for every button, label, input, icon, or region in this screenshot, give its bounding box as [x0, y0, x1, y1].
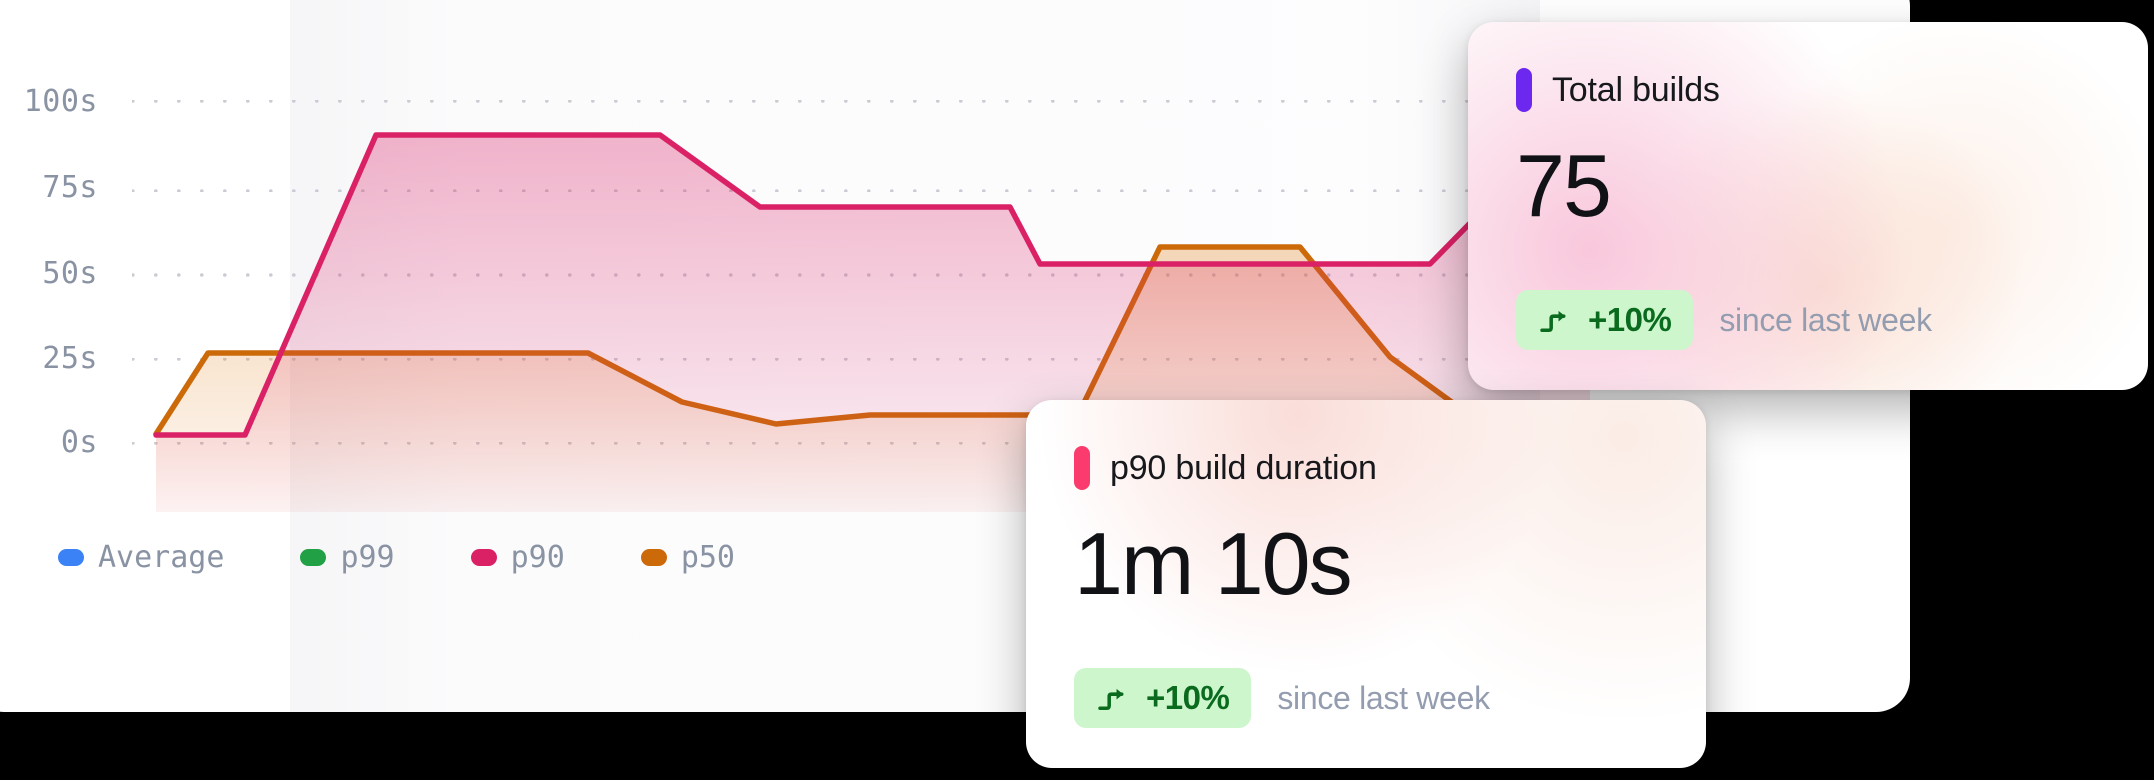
legend-item-p50[interactable]: p50 [641, 540, 735, 575]
trending-up-icon [1096, 683, 1130, 713]
legend-swatch-p90-icon [471, 549, 497, 566]
legend-item-p99[interactable]: p99 [300, 540, 394, 575]
legend-swatch-p99-icon [300, 549, 326, 566]
legend-item-p90[interactable]: p90 [471, 540, 565, 575]
card-footer: +10% since last week [1074, 668, 1658, 728]
y-tick-25s: 25s [0, 341, 98, 376]
card-title: Total builds [1552, 71, 1720, 110]
trending-up-icon [1538, 305, 1572, 335]
y-tick-50s: 50s [0, 256, 98, 291]
metric-card-p90-build-duration[interactable]: p90 build duration 1m 10s +10% since las… [1026, 400, 1706, 768]
card-value: 1m 10s [1074, 518, 1658, 610]
legend-item-average[interactable]: Average [58, 540, 224, 575]
screenshot-stage: 100s 75s 50s 25s 0s Average p99 p90 [0, 0, 2154, 780]
legend-label-average: Average [98, 540, 224, 575]
accent-bar-icon [1074, 446, 1090, 490]
card-header: p90 build duration [1074, 446, 1658, 490]
legend-label-p50: p50 [681, 540, 735, 575]
accent-bar-icon [1516, 68, 1532, 112]
status-badge: +10% [1516, 290, 1693, 350]
delta-value: +10% [1146, 679, 1229, 717]
legend-label-p99: p99 [340, 540, 394, 575]
chart-legend: Average p99 p90 p50 [58, 540, 811, 575]
legend-swatch-average-icon [58, 549, 84, 566]
card-footer: +10% since last week [1516, 290, 2100, 350]
delta-value: +10% [1588, 301, 1671, 339]
y-tick-75s: 75s [0, 170, 98, 205]
legend-swatch-p50-icon [641, 549, 667, 566]
y-tick-0s: 0s [0, 425, 98, 460]
card-header: Total builds [1516, 68, 2100, 112]
delta-period-label: since last week [1719, 302, 1932, 339]
metric-card-total-builds[interactable]: Total builds 75 +10% since last week [1468, 22, 2148, 390]
card-value: 75 [1516, 140, 2100, 232]
status-badge: +10% [1074, 668, 1251, 728]
legend-label-p90: p90 [511, 540, 565, 575]
delta-period-label: since last week [1277, 680, 1490, 717]
card-title: p90 build duration [1110, 449, 1377, 488]
y-tick-100s: 100s [0, 84, 98, 119]
